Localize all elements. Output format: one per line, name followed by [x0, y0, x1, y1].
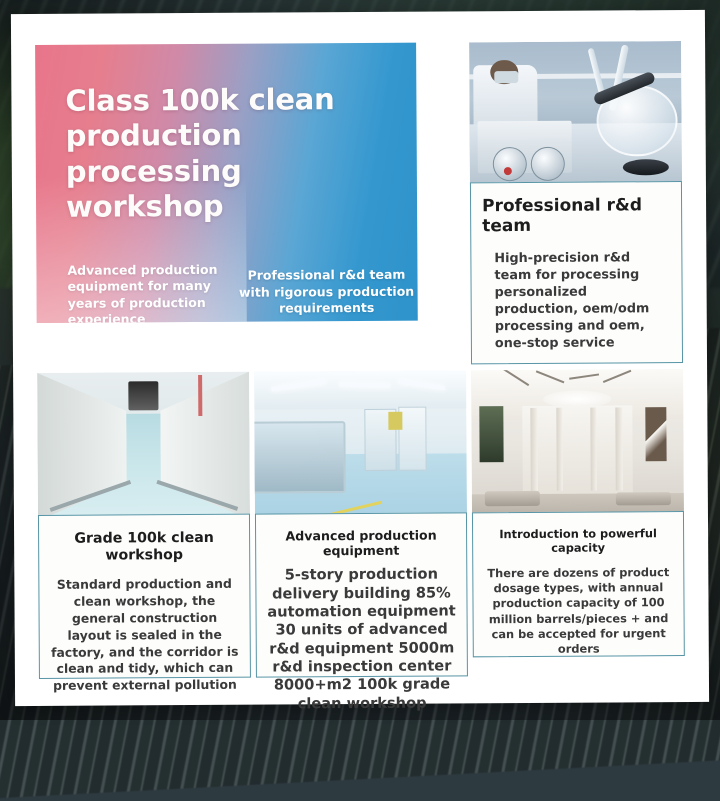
feature-card-clean-workshop[interactable]: Grade 100k clean workshop Standard produ… [37, 372, 251, 679]
hero-title: Class 100k clean production processing w… [65, 82, 396, 226]
feature-card-rd-team[interactable]: Professional r&d team High-precision r&d… [469, 41, 683, 364]
hero-subtitle-right: Professional r&d team with rigorous prod… [236, 267, 416, 318]
cleanroom-equipment-photo [254, 370, 467, 519]
feature-card-capacity[interactable]: Introduction to powerful capacity There … [471, 369, 685, 657]
hero-banner: Class 100k clean production processing w… [35, 43, 418, 323]
card-text-box: Introduction to powerful capacity There … [472, 511, 685, 657]
clean-corridor-photo [37, 372, 250, 521]
card-body: 5-story production delivery building 85%… [263, 566, 460, 714]
card-title: Introduction to powerful capacity [484, 527, 672, 556]
card-body: High-precision r&d team for processing p… [482, 249, 671, 352]
laboratory-photo [469, 41, 682, 188]
card-text-box: Advanced production equipment 5-story pr… [255, 512, 468, 677]
card-title: Advanced production equipment [263, 527, 459, 558]
brochure-sheet: Class 100k clean production processing w… [11, 10, 709, 706]
card-text-box: Grade 100k clean workshop Standard produ… [38, 514, 251, 679]
lobby-interior-photo [471, 369, 684, 518]
card-title: Grade 100k clean workshop [48, 530, 240, 565]
card-body: There are dozens of product dosage types… [484, 565, 673, 658]
feature-card-advanced-equipment[interactable]: Advanced production equipment 5-story pr… [254, 370, 468, 677]
card-text-box: Professional r&d team High-precision r&d… [470, 181, 683, 364]
card-body: Standard production and clean workshop, … [48, 576, 241, 695]
hero-subtitle-left: Advanced production equipment for many y… [67, 262, 217, 323]
card-title: Professional r&d team [482, 195, 670, 237]
